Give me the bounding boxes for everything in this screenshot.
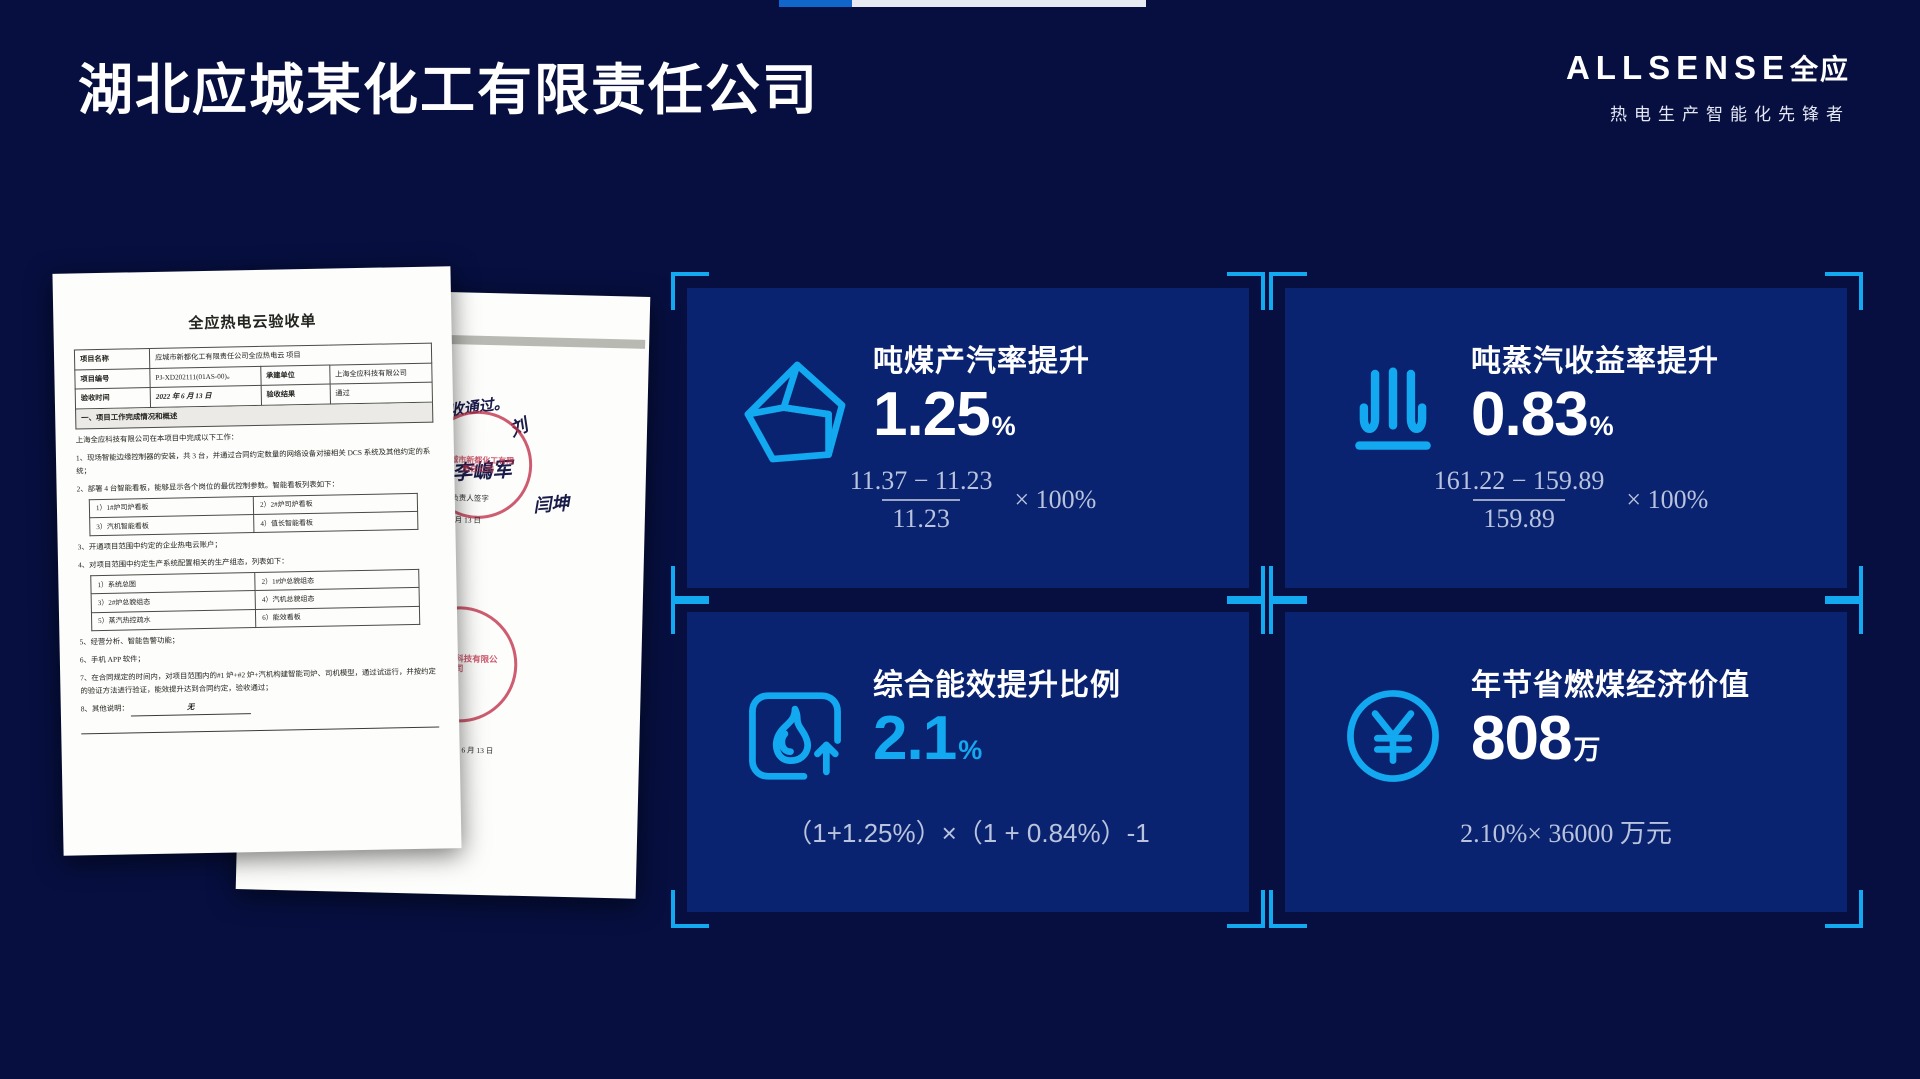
corner-bracket-bottom-right-icon [1227,890,1265,928]
field-label: 承建单位 [260,365,329,386]
field-label: 验收结果 [261,385,330,406]
document-title: 全应热电云验收单 [73,307,431,340]
kpi-card-coal-to-steam-ratio[interactable]: 吨煤产汽率提升 1.25% 11.37 − 11.23 11.23 × 100% [687,288,1249,588]
field-label: 项目编号 [75,368,150,389]
yuan-circle-icon [1337,680,1449,792]
formula-tail: × 100% [1014,485,1096,515]
kpi-label: 吨蒸汽收益率提升 [1471,336,1719,380]
corner-bracket-top-left-icon [1269,272,1307,310]
fraction: 161.22 − 159.89 159.89 [1424,466,1615,534]
fraction-denominator: 11.23 [882,499,960,534]
document-intro: 上海全应科技有限公司在本项目中完成以下工作： [76,428,434,448]
brand-logo: ALLSENSE全应 热电生产智能化先锋者 [1566,48,1850,125]
brand-name: ALLSENSE全应 [1566,48,1850,88]
kpi-formula: 11.37 − 11.23 11.23 × 100% [687,466,1249,534]
kpi-label: 年节省燃煤经济价值 [1471,660,1750,704]
document-other-label: 8、其他说明： [81,703,129,713]
kpi-value: 808万 [1471,706,1750,771]
fraction: 11.37 − 11.23 11.23 [840,466,1003,534]
formula-tail: × 100% [1626,485,1708,515]
document-item: 1、现场智能边缘控制器的安装，共 3 台，并通过合同约定数量的网络设备对接相关 … [76,446,434,479]
list-item: 4）值长智能看板 [254,511,419,532]
kpi-formula: 161.22 − 159.89 159.89 × 100% [1285,466,1847,534]
kpi-label: 综合能效提升比例 [873,660,1121,704]
document-item: 7、在合同规定的时间内，对项目范围内的#1 炉+#2 炉+汽机构建智能司炉、司机… [80,665,438,698]
kpi-card-overall-energy-efficiency[interactable]: 综合能效提升比例 2.1% （1+1.25%）×（1 + 0.84%）-1 [687,612,1249,912]
field-value: PJ-XD202111(01AS-00)。 [150,366,261,388]
kpi-unit: 万 [1573,735,1599,765]
kpi-unit: % [992,411,1015,441]
fraction-denominator: 159.89 [1473,499,1565,534]
steam-lines-icon [1337,356,1449,468]
corner-bracket-bottom-left-icon [671,890,709,928]
document-item: 6、手机 APP 软件； [80,647,438,667]
corner-bracket-top-left-icon [671,272,709,310]
signature-label: 负责人签字 [451,492,489,504]
fraction-numerator: 11.37 − 11.23 [840,466,1003,499]
corner-bracket-top-left-icon [671,596,709,634]
corner-bracket-top-right-icon [1227,272,1265,310]
corner-bracket-bottom-right-icon [1825,890,1863,928]
kpi-number: 2.1 [873,704,956,773]
document-item: 3、开通项目范围中约定的企业热电云账户； [78,535,436,555]
corner-bracket-top-right-icon [1825,272,1863,310]
kpi-formula: 2.10%× 36000 万元 [1285,813,1847,850]
top-progress-bar [779,0,1146,7]
top-progress-fill [779,0,852,7]
kpi-value: 2.1% [873,706,1121,771]
kpi-number: 0.83 [1471,380,1588,449]
slide-root: 湖北应城某化工有限责任公司 ALLSENSE全应 热电生产智能化先锋者 验收通过… [0,0,1920,1079]
kpi-number: 808 [1471,704,1571,773]
corner-bracket-top-left-icon [1269,596,1307,634]
fraction-numerator: 161.22 − 159.89 [1424,466,1615,499]
kpi-grid: 吨煤产汽率提升 1.25% 11.37 − 11.23 11.23 × 100% [687,288,1847,912]
field-value: 上海全应科技有限公司 [329,363,432,385]
kpi-label: 吨煤产汽率提升 [873,336,1090,380]
corner-bracket-top-right-icon [1825,596,1863,634]
brand-tagline: 热电生产智能化先锋者 [1566,100,1850,125]
kpi-card-steam-yield-rate[interactable]: 吨蒸汽收益率提升 0.83% 161.22 − 159.89 159.89 × … [1285,288,1847,588]
field-label: 项目名称 [74,349,149,370]
kpi-value: 0.83% [1471,382,1719,447]
kpi-unit: % [958,735,981,765]
field-value: 2022 年 6 月 13 日 [150,386,261,408]
kpi-number: 1.25 [873,380,990,449]
brand-name-en: ALLSENSE [1566,49,1790,86]
document-item: 5、经营分析、智能告警功能； [79,630,437,650]
document-other-value: 无 [131,700,251,716]
signature-mark-e: 闫坤 [532,489,570,518]
brand-name-cn: 全应 [1790,54,1850,85]
kpi-card-annual-coal-savings[interactable]: 年节省燃煤经济价值 808万 2.10%× 36000 万元 [1285,612,1847,912]
corner-bracket-top-right-icon [1227,596,1265,634]
document-divider [81,726,439,734]
flame-up-icon [739,680,851,792]
field-value: 通过 [330,383,433,405]
page-title: 湖北应城某化工有限责任公司 [78,45,819,125]
acceptance-document-front: 全应热电云验收单 项目名称 应城市新都化工有限责任公司全应热电云 项目 项目编号… [52,266,461,856]
config-list-table: 1）系统总图 2）1#炉总貌组态 3）2#炉总貌组态 4）汽机总貌组态 5）蒸汽… [90,569,420,631]
coal-lump-icon [739,356,851,468]
field-label: 验收时间 [75,388,150,409]
kpi-unit: % [1590,411,1613,441]
kpi-value: 1.25% [873,382,1090,447]
kpi-formula: （1+1.25%）×（1 + 0.84%）-1 [687,813,1249,850]
corner-bracket-bottom-left-icon [1269,890,1307,928]
list-item: 5）蒸汽热控疏水 [91,609,255,630]
document-info-table: 项目名称 应城市新都化工有限责任公司全应热电云 项目 项目编号 PJ-XD202… [74,343,433,410]
document-other-note: 8、其他说明： 无 [81,696,439,717]
list-item: 3）汽机智能看板 [90,515,254,536]
board-list-table: 1）1#炉司炉看板 2）2#炉司炉看板 3）汽机智能看板 4）值长智能看板 [89,493,419,537]
list-item: 6）能效看板 [256,606,421,627]
